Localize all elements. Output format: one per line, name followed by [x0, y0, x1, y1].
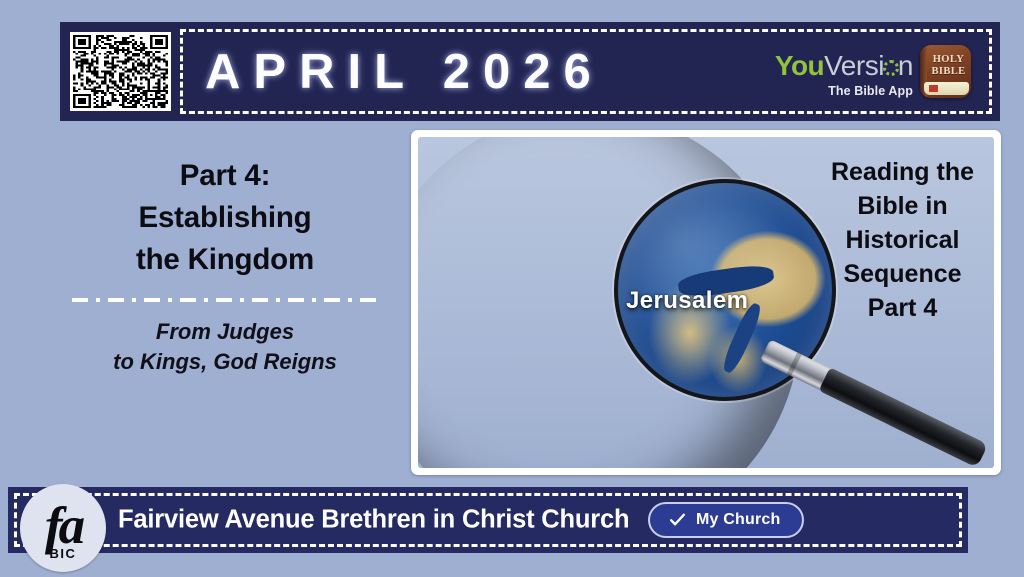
- youversion-you: You: [775, 50, 824, 81]
- youversion-version-end: n: [898, 50, 913, 81]
- right-line4: Sequence: [800, 257, 1005, 291]
- left-text-panel: Part 4: Establishing the Kingdom From Ju…: [60, 155, 390, 377]
- magnifier-handle: [759, 338, 986, 467]
- bible-icon-line1: HOLY: [933, 54, 965, 65]
- right-line5: Part 4: [800, 291, 1005, 325]
- month-year-title: APRIL 2026: [205, 44, 604, 100]
- footer-bar: Fairview Avenue Brethren in Christ Churc…: [8, 487, 968, 553]
- right-text-panel: Reading the Bible in Historical Sequence…: [800, 155, 1005, 325]
- right-line3: Historical: [800, 223, 1005, 257]
- series-part-title: Part 4: Establishing the Kingdom: [60, 155, 390, 281]
- qr-code[interactable]: [70, 32, 171, 111]
- mediterranean-sea-shape: [677, 262, 775, 299]
- church-logo[interactable]: fa BIC: [20, 484, 106, 572]
- right-line1: Reading the: [800, 155, 1005, 189]
- youversion-logo[interactable]: YouVersin The Bible App HOLY BIBLE: [775, 45, 971, 98]
- slide-canvas: APRIL 2026 YouVersin The Bible App HOLY …: [0, 0, 1024, 577]
- red-sea-shape: [720, 301, 765, 375]
- series-subtitle: From Judges to Kings, God Reigns: [60, 317, 390, 377]
- subtitle-line2: to Kings, God Reigns: [60, 347, 390, 377]
- youversion-text: YouVersin The Bible App: [775, 52, 913, 98]
- my-church-button[interactable]: My Church: [648, 502, 804, 538]
- youversion-version: Versi: [824, 50, 884, 81]
- part-title-line1: Part 4:: [60, 155, 390, 197]
- right-line2: Bible in: [800, 189, 1005, 223]
- bible-ribbon: [929, 85, 938, 92]
- header-bar: APRIL 2026 YouVersin The Bible App HOLY …: [60, 22, 1000, 121]
- subtitle-line1: From Judges: [60, 317, 390, 347]
- bible-icon-text: HOLY BIBLE: [929, 54, 968, 78]
- church-logo-denomination: BIC: [20, 546, 106, 561]
- check-icon: [668, 510, 687, 529]
- part-title-line2: Establishing: [60, 197, 390, 239]
- church-name: Fairview Avenue Brethren in Christ Churc…: [118, 506, 629, 535]
- magnifier-grip: [819, 367, 989, 468]
- holy-bible-app-icon[interactable]: HOLY BIBLE: [920, 45, 971, 98]
- bible-icon-line2: BIBLE: [931, 66, 965, 77]
- dash-divider: [72, 298, 378, 302]
- church-logo-monogram: fa: [45, 500, 81, 553]
- part-title-line3: the Kingdom: [60, 239, 390, 281]
- youversion-ring-icon: [883, 60, 899, 76]
- youversion-wordmark: YouVersin: [775, 52, 913, 80]
- header-dashed-frame: APRIL 2026 YouVersin The Bible App HOLY …: [180, 29, 992, 114]
- my-church-label: My Church: [696, 511, 780, 529]
- qr-code-canvas: [73, 35, 168, 108]
- bible-app-tagline: The Bible App: [828, 84, 913, 98]
